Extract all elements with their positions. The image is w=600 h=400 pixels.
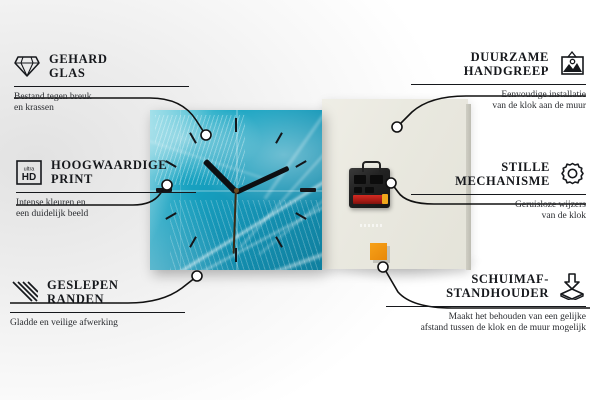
callout-title: GEHARD GLAS — [49, 52, 107, 80]
callout-rule — [10, 312, 185, 313]
callout-title: HOOGWAARDIGE PRINT — [51, 158, 167, 186]
foam-spacer-pad — [370, 243, 387, 260]
callout-rule — [411, 194, 586, 195]
callout-desc-line1: Gladde en veilige afwerking — [10, 318, 185, 329]
callout-rule — [386, 306, 586, 307]
diagonal-lines-icon — [10, 280, 38, 304]
callout-title: STILLE MECHANISME — [455, 160, 550, 188]
callout-rule — [14, 86, 189, 87]
callout-title: GESLEPEN RANDEN — [47, 278, 119, 306]
callout-header: GEHARD GLAS — [14, 52, 189, 80]
movement-slot — [354, 175, 366, 184]
clock-tick-12 — [235, 118, 237, 132]
diamond-icon — [14, 54, 40, 78]
battery-label — [360, 224, 382, 227]
callout-desc-line2: van de klok aan de muur — [411, 101, 586, 112]
callout-desc-line1: Eenvoudige installatie — [411, 90, 586, 101]
battery-plus-terminal — [382, 194, 388, 204]
movement-slot — [365, 187, 374, 193]
callout-desc-line2: en krassen — [14, 103, 189, 114]
callout-desc-line2: een duidelijk beeld — [16, 209, 196, 220]
callout-schuimaf-standhouder[interactable]: SCHUIMAF- STANDHOUDER Maakt het behouden… — [386, 272, 586, 334]
svg-text:HD: HD — [22, 172, 36, 183]
callout-header: SCHUIMAF- STANDHOUDER — [386, 272, 586, 300]
press-down-icon — [558, 272, 586, 300]
hand-hub — [234, 188, 239, 193]
callout-header: STILLE MECHANISME — [411, 160, 586, 188]
picture-frame-icon — [558, 51, 586, 77]
movement-slot — [354, 187, 362, 193]
callout-rule — [16, 192, 196, 193]
clock-movement — [349, 168, 390, 208]
infographic-canvas: GEHARD GLAS Bestand tegen breuk en krass… — [0, 0, 600, 400]
callout-title: SCHUIMAF- STANDHOUDER — [446, 272, 549, 300]
movement-slot — [370, 175, 383, 184]
callout-desc-line1: Intense kleuren en — [16, 198, 196, 209]
clock-tick-6 — [235, 248, 237, 262]
gear-icon — [559, 161, 586, 187]
callout-duurzame-handgreep[interactable]: DUURZAME HANDGREEP Eenvoudige installati… — [411, 50, 586, 112]
callout-title: DUURZAME HANDGREEP — [464, 50, 549, 78]
callout-gehard-glas[interactable]: GEHARD GLAS Bestand tegen breuk en krass… — [14, 52, 189, 114]
callout-desc-line2: van de klok — [411, 211, 586, 222]
callout-desc-line1: Maakt het behouden van een gelijke — [386, 312, 586, 323]
clock-tick-3 — [300, 188, 316, 192]
callout-header: ultra HD HOOGWAARDIGE PRINT — [16, 158, 196, 186]
callout-desc-line1: Geruisloze wijzers — [411, 200, 586, 211]
callout-desc-line2: afstand tussen de klok en de muur mogeli… — [386, 323, 586, 334]
callout-stille-mechanisme[interactable]: STILLE MECHANISME Geruisloze wijzers van… — [411, 160, 586, 222]
ultra-hd-icon: ultra HD — [16, 160, 42, 185]
callout-header: DUURZAME HANDGREEP — [411, 50, 586, 78]
callout-desc-line1: Bestand tegen breuk — [14, 92, 189, 103]
callout-hoogwaardige-print[interactable]: ultra HD HOOGWAARDIGE PRINT Intense kleu… — [16, 158, 196, 220]
callout-rule — [411, 84, 586, 85]
callout-geslepen-randen[interactable]: GESLEPEN RANDEN Gladde en veilige afwerk… — [10, 278, 185, 329]
callout-header: GESLEPEN RANDEN — [10, 278, 185, 306]
hanger-loop — [362, 161, 381, 172]
